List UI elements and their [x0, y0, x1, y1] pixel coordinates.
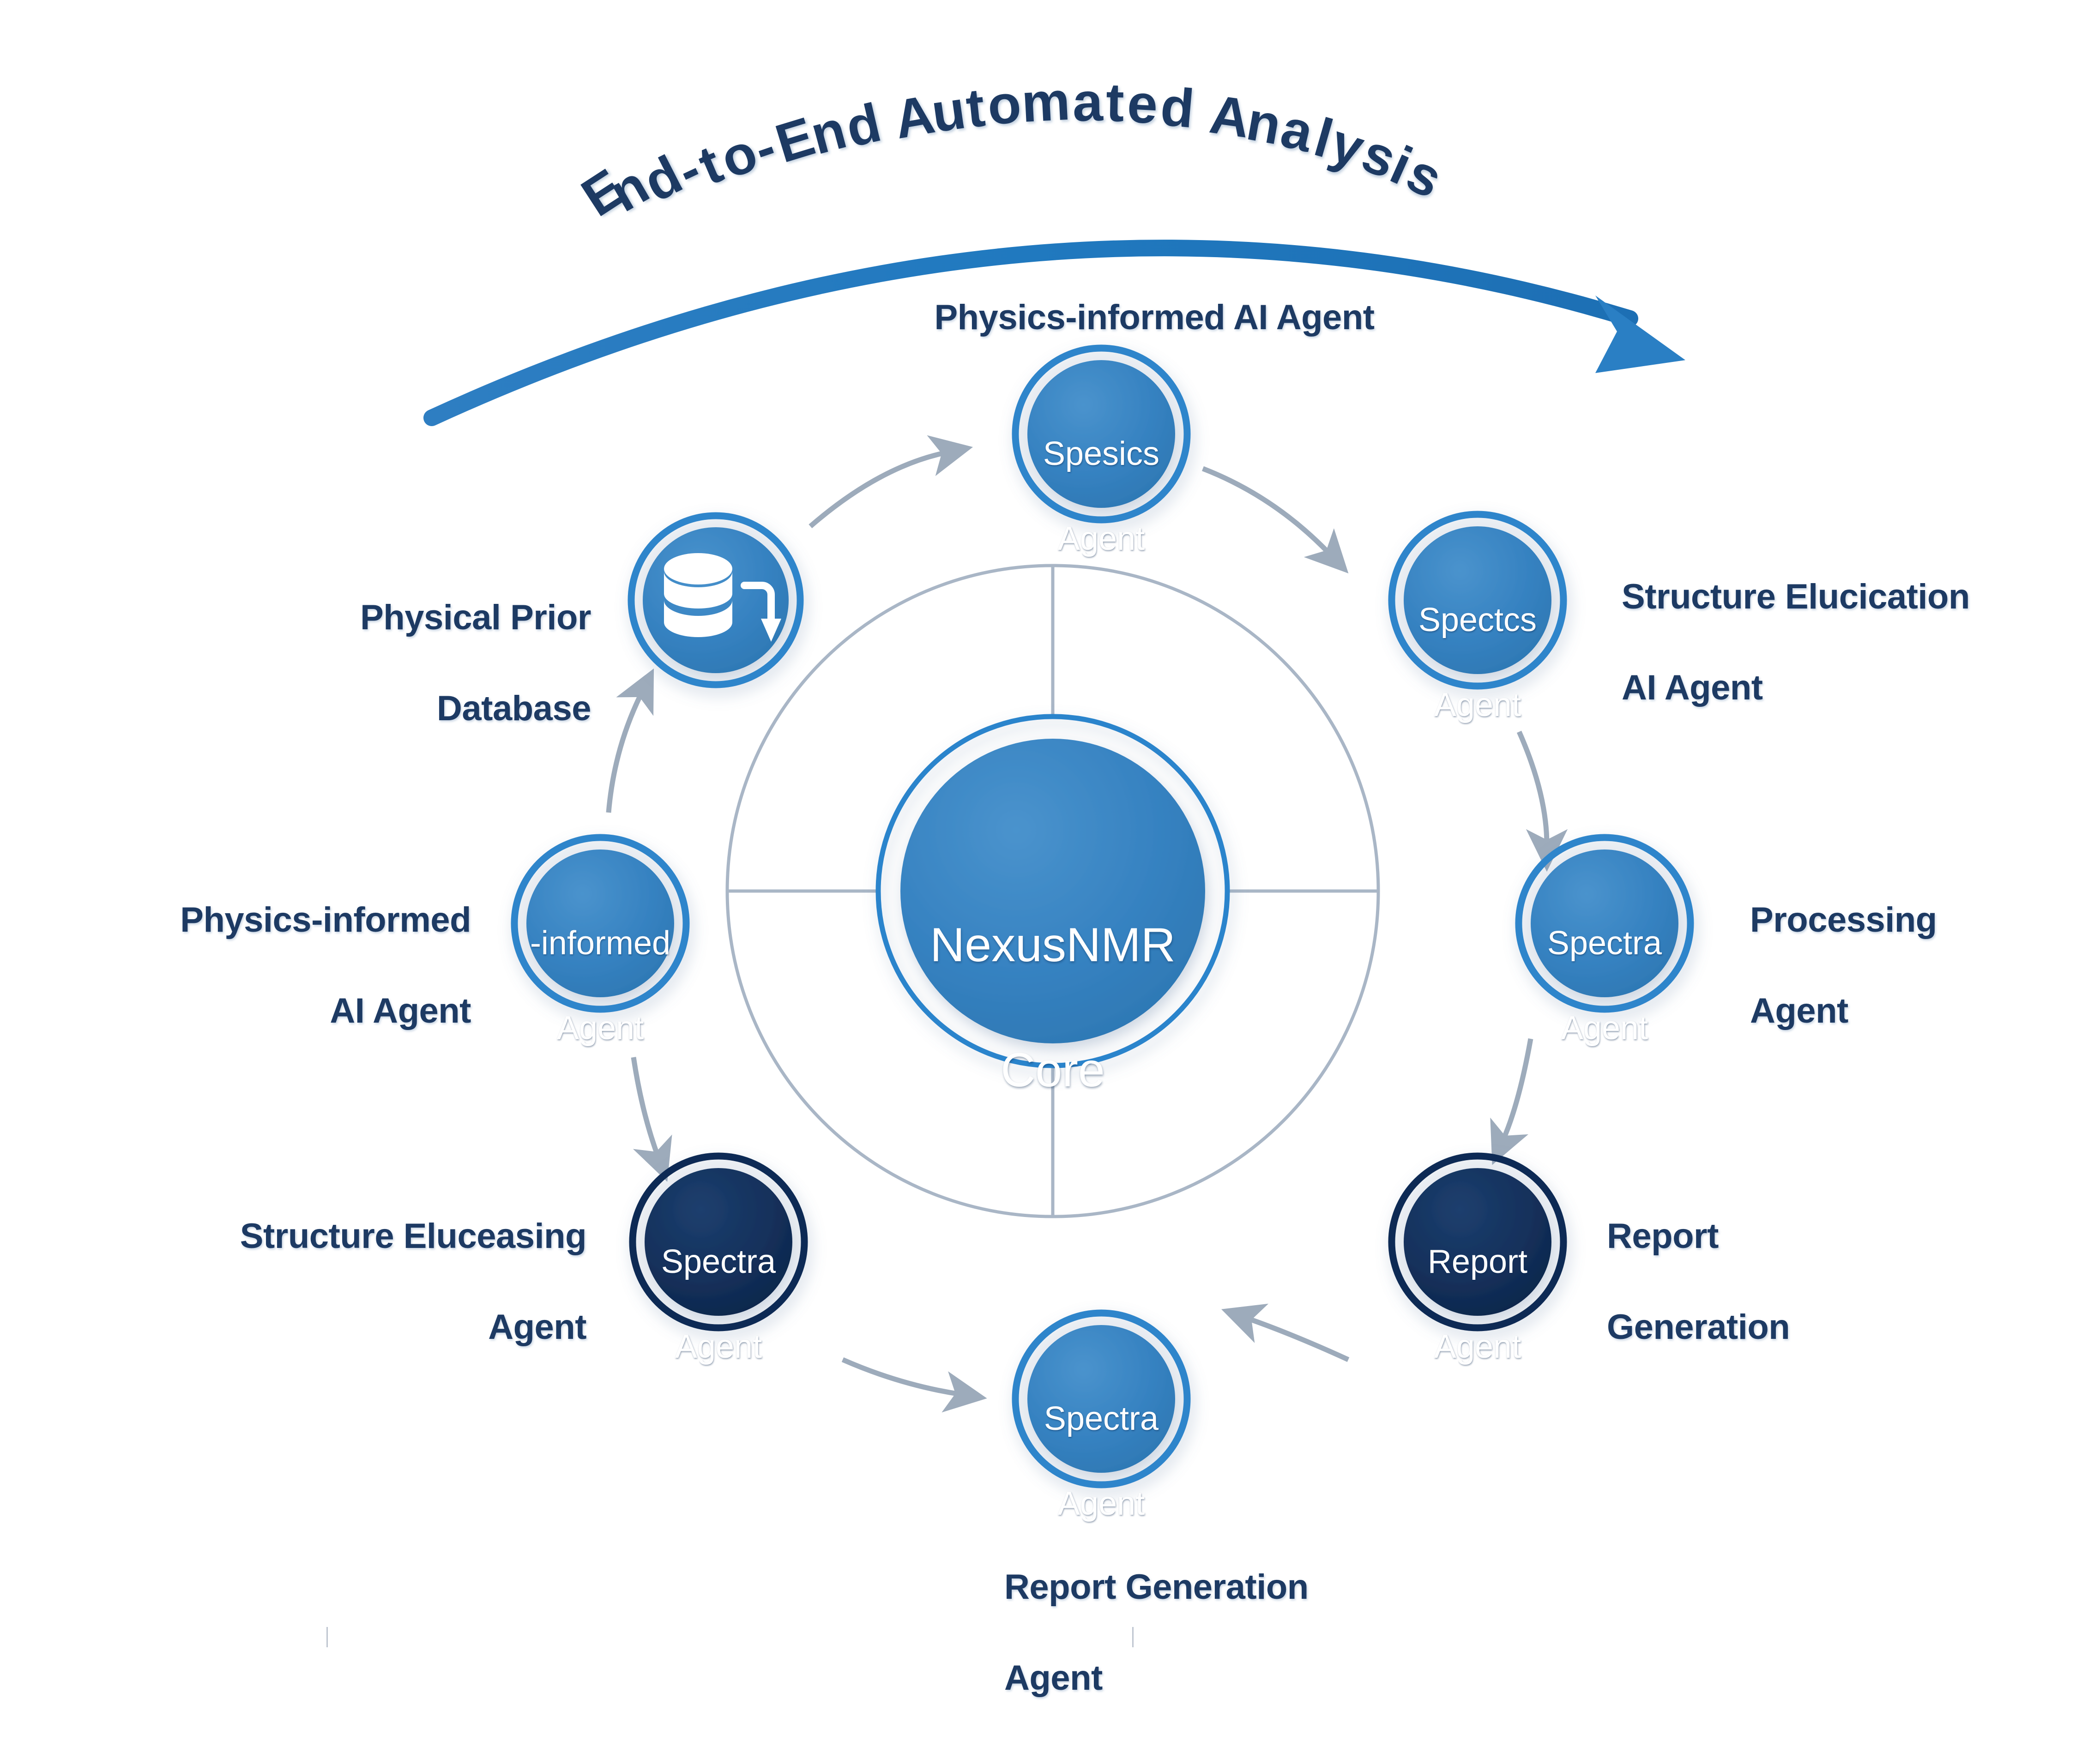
label-line1: Report: [1607, 1214, 2022, 1259]
label-line2: Agent: [37, 1305, 586, 1350]
label-line1: Structure Eluceasing: [37, 1214, 586, 1259]
bottom-tick-left: [326, 1627, 328, 1647]
banner-title: E n d - t o - E n d A u t o m a t e d A …: [531, 32, 1639, 226]
node-spectra-agent-lower-left[interactable]: [626, 1149, 811, 1335]
diagram-canvas: E n d - t o - E n d A u t o m a t e d A …: [0, 0, 2100, 1647]
label-line2: Agent: [1750, 988, 2100, 1034]
label-line2: AI Agent: [55, 988, 471, 1034]
bottom-tick-right: [1132, 1627, 1134, 1647]
label-line1: Physics-informed: [55, 898, 471, 943]
node-spectcs-agent[interactable]: [1385, 507, 1570, 693]
label-line2: AI Agent: [1622, 665, 2097, 711]
label-spectcs-agent: Structure Elucication AI Agent: [1622, 529, 2097, 757]
label-line1: Physical Prior: [194, 595, 591, 641]
node-spectra-agent-right[interactable]: [1512, 831, 1697, 1016]
core-node-nexusnmr-core[interactable]: [878, 717, 1227, 1066]
label-spesics-agent: Physics-informed AI Agent: [868, 249, 1441, 386]
label-line1: Report Generation: [1004, 1565, 1605, 1610]
label-line2: Agent: [1004, 1656, 1605, 1701]
label-line2: Generation: [1607, 1305, 2022, 1350]
label-line1: Structure Elucication: [1622, 574, 2097, 620]
label-spectra-agent-right: Processing Agent: [1750, 852, 2100, 1080]
node-physical-prior-database[interactable]: [624, 508, 808, 692]
label-line2: Database: [194, 686, 591, 732]
label-spectra-agent-bottom: Report Generation Agent: [1004, 1519, 1605, 1747]
node-informed-agent[interactable]: [507, 831, 693, 1016]
label-line1: Physics-informed AI Agent: [868, 295, 1441, 341]
node-report-agent[interactable]: [1385, 1149, 1570, 1335]
label-physical-prior-database: Physical Prior Database: [194, 549, 591, 777]
node-spectra-agent-bottom[interactable]: [1008, 1306, 1194, 1492]
label-line1: Processing: [1750, 898, 2100, 943]
label-informed-agent: Physics-informed AI Agent: [55, 852, 471, 1080]
label-spectra-agent-lower-left: Structure Eluceasing Agent: [37, 1168, 586, 1396]
label-report-agent: Report Generation: [1607, 1168, 2022, 1396]
